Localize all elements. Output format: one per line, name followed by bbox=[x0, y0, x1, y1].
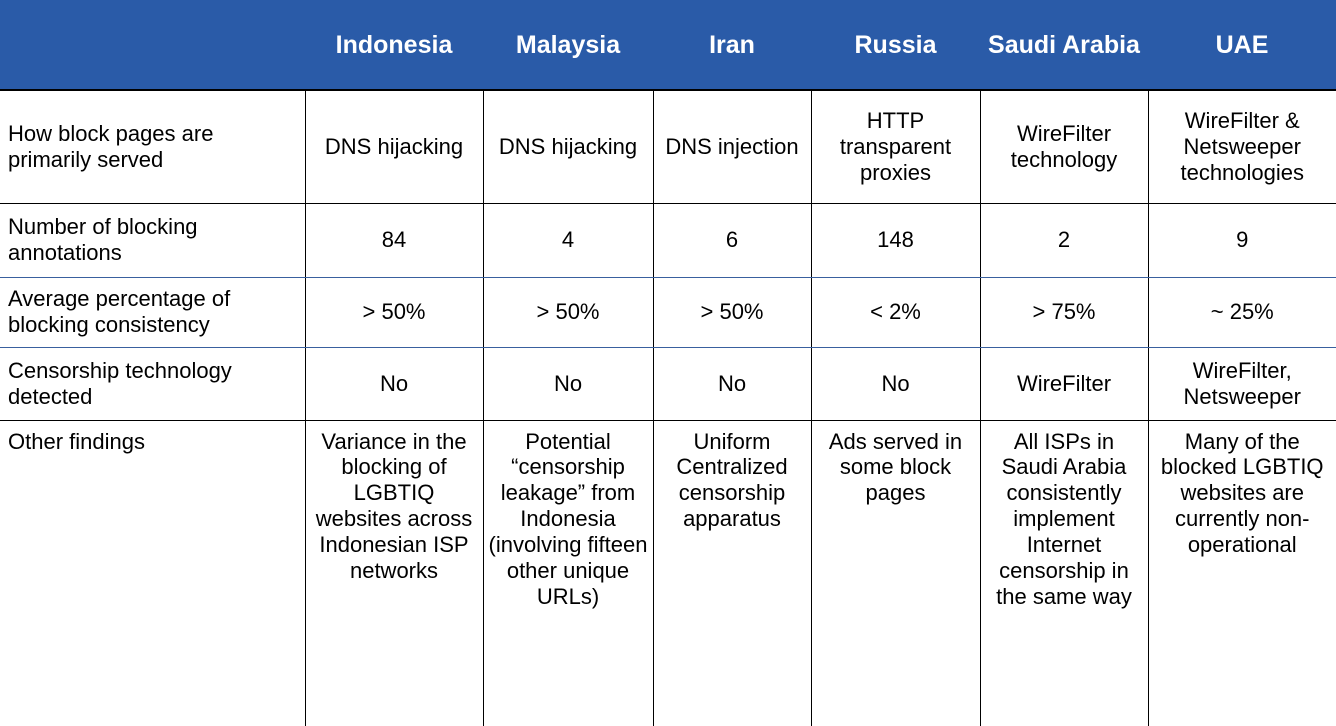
cell-consistency-uae: ~ 25% bbox=[1148, 277, 1336, 347]
cell-consistency-indonesia: > 50% bbox=[305, 277, 483, 347]
table-row: Number of blocking annotations 84 4 6 14… bbox=[0, 203, 1336, 277]
cell-consistency-saudi-arabia: > 75% bbox=[980, 277, 1148, 347]
column-header-iran: Iran bbox=[653, 0, 811, 90]
cell-technology-uae: WireFilter, Netsweeper bbox=[1148, 347, 1336, 420]
column-header-uae: UAE bbox=[1148, 0, 1336, 90]
table-body: How block pages are primarily served DNS… bbox=[0, 90, 1336, 726]
column-header-row-label bbox=[0, 0, 305, 90]
cell-block-pages-russia: HTTP transparent proxies bbox=[811, 90, 980, 203]
cell-technology-saudi-arabia: WireFilter bbox=[980, 347, 1148, 420]
column-header-indonesia: Indonesia bbox=[305, 0, 483, 90]
cell-consistency-malaysia: > 50% bbox=[483, 277, 653, 347]
cell-technology-russia: No bbox=[811, 347, 980, 420]
column-header-saudi-arabia: Saudi Arabia bbox=[980, 0, 1148, 90]
cell-annotations-malaysia: 4 bbox=[483, 203, 653, 277]
cell-block-pages-uae: WireFilter & Netsweeper technologies bbox=[1148, 90, 1336, 203]
row-label-blocking-annotations: Number of blocking annotations bbox=[0, 203, 305, 277]
cell-findings-malaysia: Potential “censorship leakage” from Indo… bbox=[483, 420, 653, 726]
cell-findings-uae: Many of the blocked LGBTIQ websites are … bbox=[1148, 420, 1336, 726]
cell-annotations-indonesia: 84 bbox=[305, 203, 483, 277]
table-row: Average percentage of blocking consisten… bbox=[0, 277, 1336, 347]
cell-findings-iran: Uniform Centralized censorship apparatus bbox=[653, 420, 811, 726]
row-label-blocking-consistency: Average percentage of blocking consisten… bbox=[0, 277, 305, 347]
row-label-other-findings: Other findings bbox=[0, 420, 305, 726]
cell-block-pages-malaysia: DNS hijacking bbox=[483, 90, 653, 203]
row-label-block-pages-served: How block pages are primarily served bbox=[0, 90, 305, 203]
cell-block-pages-saudi-arabia: WireFilter technology bbox=[980, 90, 1148, 203]
cell-annotations-uae: 9 bbox=[1148, 203, 1336, 277]
table-row: Censorship technology detected No No No … bbox=[0, 347, 1336, 420]
cell-technology-iran: No bbox=[653, 347, 811, 420]
comparison-table-container: Indonesia Malaysia Iran Russia Saudi Ara… bbox=[0, 0, 1336, 726]
cell-annotations-saudi-arabia: 2 bbox=[980, 203, 1148, 277]
cell-annotations-russia: 148 bbox=[811, 203, 980, 277]
cell-block-pages-indonesia: DNS hijacking bbox=[305, 90, 483, 203]
cell-block-pages-iran: DNS injection bbox=[653, 90, 811, 203]
row-label-censorship-technology: Censorship technology detected bbox=[0, 347, 305, 420]
table-row: How block pages are primarily served DNS… bbox=[0, 90, 1336, 203]
header-row: Indonesia Malaysia Iran Russia Saudi Ara… bbox=[0, 0, 1336, 90]
cell-findings-saudi-arabia: All ISPs in Saudi Arabia consistently im… bbox=[980, 420, 1148, 726]
cell-technology-malaysia: No bbox=[483, 347, 653, 420]
cell-findings-indonesia: Variance in the blocking of LGBTIQ websi… bbox=[305, 420, 483, 726]
cell-technology-indonesia: No bbox=[305, 347, 483, 420]
column-header-malaysia: Malaysia bbox=[483, 0, 653, 90]
cell-consistency-russia: < 2% bbox=[811, 277, 980, 347]
table-header: Indonesia Malaysia Iran Russia Saudi Ara… bbox=[0, 0, 1336, 90]
cell-consistency-iran: > 50% bbox=[653, 277, 811, 347]
table-row: Other findings Variance in the blocking … bbox=[0, 420, 1336, 726]
censorship-comparison-table: Indonesia Malaysia Iran Russia Saudi Ara… bbox=[0, 0, 1336, 726]
cell-findings-russia: Ads served in some block pages bbox=[811, 420, 980, 726]
column-header-russia: Russia bbox=[811, 0, 980, 90]
cell-annotations-iran: 6 bbox=[653, 203, 811, 277]
